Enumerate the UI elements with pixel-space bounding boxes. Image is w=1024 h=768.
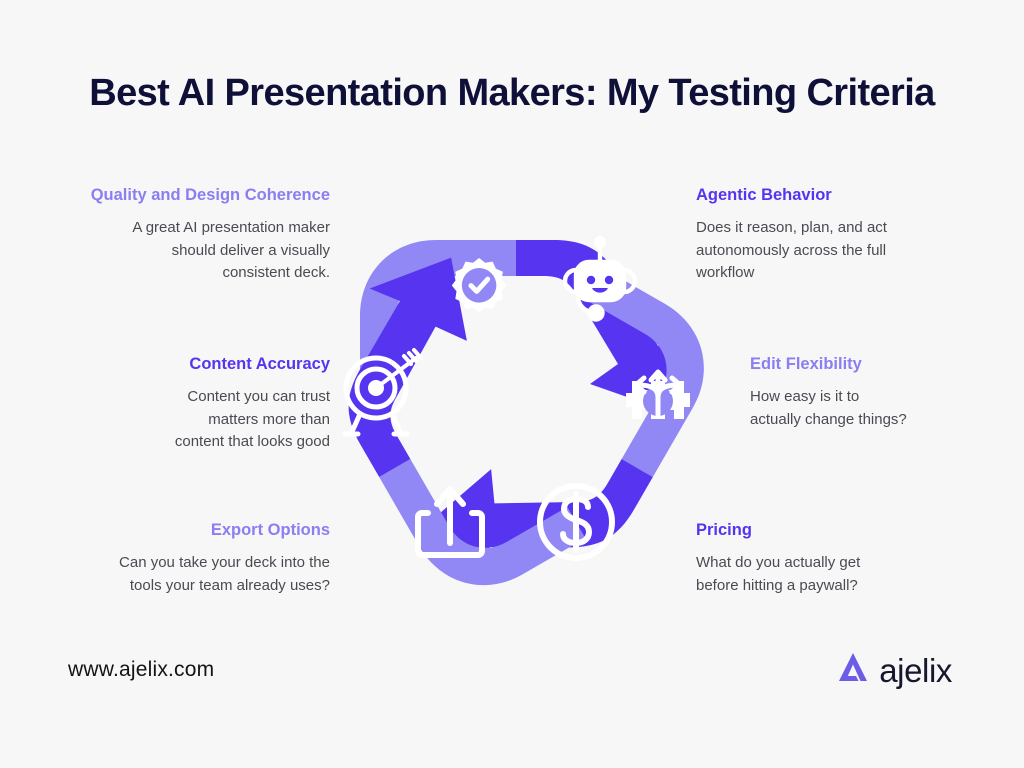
criterion-heading-content: Content Accuracy [30, 355, 330, 375]
criterion-block-quality: Quality and Design Coherence A great AI … [30, 186, 330, 285]
page-title: Best AI Presentation Makers: My Testing … [0, 72, 1024, 115]
criterion-body-pricing: What do you actually get before hitting … [696, 552, 996, 598]
criterion-block-export: Export Options Can you take your deck in… [30, 521, 330, 597]
ajelix-a-mark-icon [836, 650, 870, 689]
criterion-body-content: Content you can trust matters more than … [30, 386, 330, 454]
criterion-body-agentic: Does it reason, plan, and act autonomous… [696, 217, 996, 285]
infographic-page: Best AI Presentation Makers: My Testing … [0, 0, 1024, 768]
website-url[interactable]: www.ajelix.com [68, 658, 214, 682]
criterion-block-pricing: Pricing What do you actually get before … [696, 521, 996, 597]
criterion-heading-edit: Edit Flexibility [750, 355, 1024, 375]
criterion-heading-agentic: Agentic Behavior [696, 186, 996, 206]
cycle-diagram [318, 198, 714, 598]
criterion-heading-pricing: Pricing [696, 521, 996, 541]
ajelix-logo[interactable]: ajelix [836, 650, 952, 689]
criterion-body-quality: A great AI presentation maker should del… [30, 217, 330, 285]
criterion-body-edit: How easy is it to actually change things… [750, 386, 1024, 432]
criterion-block-edit: Edit Flexibility How easy is it to actua… [750, 355, 1024, 431]
criterion-block-agentic: Agentic Behavior Does it reason, plan, a… [696, 186, 996, 285]
criterion-block-content: Content Accuracy Content you can trust m… [30, 355, 330, 454]
criterion-heading-quality: Quality and Design Coherence [30, 186, 330, 206]
criterion-body-export: Can you take your deck into the tools yo… [30, 552, 330, 598]
criterion-heading-export: Export Options [30, 521, 330, 541]
ajelix-wordmark: ajelix [879, 654, 952, 687]
